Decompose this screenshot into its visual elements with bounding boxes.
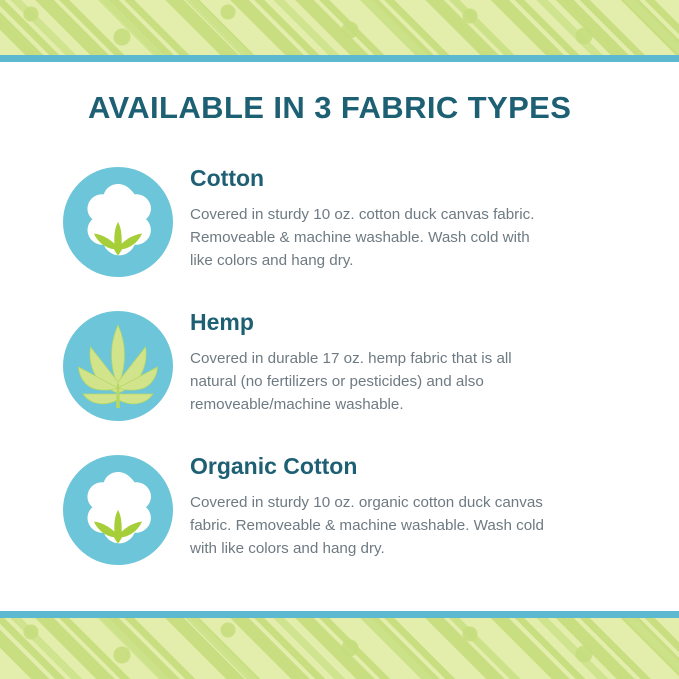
fabric-types-infographic: AVAILABLE IN 3 FABRIC TYPES Cotton Cover… bbox=[0, 0, 679, 679]
cotton-boll-ring-icon bbox=[0, 454, 190, 566]
fabric-item-hemp: Hemp Covered in durable 17 oz. hemp fabr… bbox=[0, 310, 679, 422]
bottom-decorative-band bbox=[0, 618, 679, 679]
page-title: AVAILABLE IN 3 FABRIC TYPES bbox=[88, 90, 571, 126]
dot-accents-pattern bbox=[0, 0, 679, 55]
fabric-description: Covered in durable 17 oz. hemp fabric th… bbox=[190, 347, 550, 416]
fabric-name: Organic Cotton bbox=[190, 454, 633, 479]
fabric-item-organic-cotton: Organic Cotton Covered in sturdy 10 oz. … bbox=[0, 454, 679, 566]
bottom-accent-rule bbox=[0, 611, 679, 618]
fabric-name: Cotton bbox=[190, 166, 633, 191]
dot-accents-pattern bbox=[0, 618, 679, 679]
hemp-leaf-circle-icon bbox=[0, 310, 190, 422]
fabric-item-cotton: Cotton Covered in sturdy 10 oz. cotton d… bbox=[0, 166, 679, 278]
fabric-description: Covered in sturdy 10 oz. organic cotton … bbox=[190, 491, 550, 560]
fabric-text-block: Cotton Covered in sturdy 10 oz. cotton d… bbox=[190, 166, 679, 273]
cotton-boll-ring-icon bbox=[0, 166, 190, 278]
fabric-description: Covered in sturdy 10 oz. cotton duck can… bbox=[190, 203, 550, 272]
fabric-text-block: Organic Cotton Covered in sturdy 10 oz. … bbox=[190, 454, 679, 561]
main-content: AVAILABLE IN 3 FABRIC TYPES Cotton Cover… bbox=[0, 62, 679, 611]
fabric-name: Hemp bbox=[190, 310, 633, 335]
fabric-text-block: Hemp Covered in durable 17 oz. hemp fabr… bbox=[190, 310, 679, 417]
top-accent-rule bbox=[0, 55, 679, 62]
top-decorative-band bbox=[0, 0, 679, 55]
